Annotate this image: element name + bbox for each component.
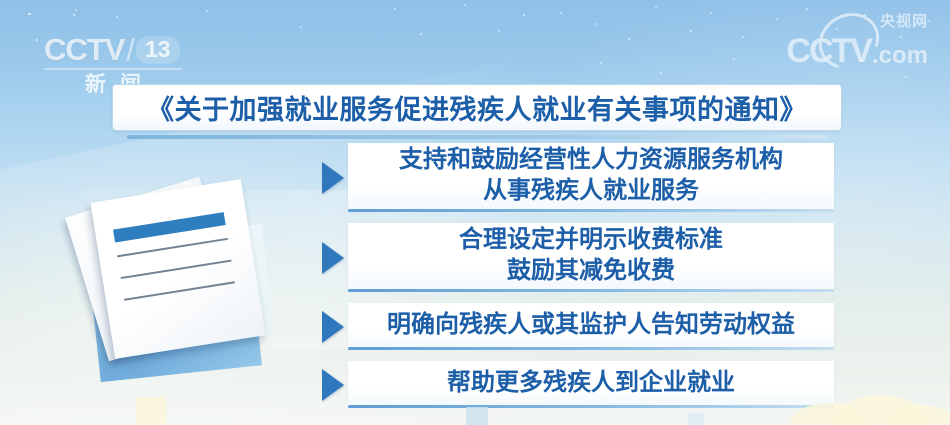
point-box: 合理设定并明示收费标准 鼓励其减免收费 — [348, 223, 834, 289]
point-text: 明确向残疾人或其监护人告知劳动权益 — [387, 310, 795, 341]
point-line-1: 帮助更多残疾人到企业就业 — [447, 369, 735, 396]
document-text-line — [117, 238, 228, 257]
bullet-arrow-icon — [322, 242, 344, 274]
star-dot — [420, 33, 422, 35]
cloud-shape — [886, 405, 950, 425]
list-item: 帮助更多残疾人到企业就业 — [322, 361, 834, 408]
cctv-logo-rule — [44, 68, 182, 70]
cctv-wordmark: CCTV — [44, 34, 124, 65]
star-dot — [300, 26, 302, 28]
star-dot — [928, 20, 930, 22]
document-text-line — [121, 260, 232, 279]
star-dot — [73, 14, 75, 16]
watermark-cctv-text: CCTV — [786, 34, 871, 68]
point-line-2: 鼓励其减免收费 — [459, 256, 723, 287]
star-dot — [206, 10, 208, 12]
cctv-slash-icon: / — [126, 34, 135, 65]
point-line-1: 支持和鼓励经营性人力资源服务机构 — [399, 146, 783, 173]
watermark-dotcom-text: .com — [872, 44, 928, 68]
point-text: 帮助更多残疾人到企业就业 — [447, 368, 735, 399]
star-dot — [28, 13, 31, 15]
star-dot — [394, 8, 396, 10]
cctv-logo-row: CCTV / 13 — [44, 34, 204, 65]
star-dot — [806, 8, 808, 10]
point-text: 合理设定并明示收费标准 鼓励其减免收费 — [459, 225, 723, 286]
star-dot — [36, 39, 38, 41]
point-box: 支持和鼓励经营性人力资源服务机构 从事残疾人就业服务 — [348, 143, 834, 209]
star-dot — [860, 60, 862, 62]
watermark-cn-text: 央视网 — [880, 14, 928, 29]
star-dot — [710, 12, 712, 14]
page-title: 《关于加强就业服务促进残疾人就业有关事项的通知》 — [147, 88, 807, 127]
points-list: 支持和鼓励经营性人力资源服务机构 从事残疾人就业服务 合理设定并明示收费标准 鼓… — [322, 143, 834, 419]
star-dot — [560, 12, 562, 14]
star-dot — [776, 18, 778, 20]
star-dot — [116, 16, 118, 18]
list-item: 合理设定并明示收费标准 鼓励其减免收费 — [322, 223, 834, 292]
star-dot — [864, 14, 866, 16]
star-dot — [628, 38, 630, 40]
point-underbar — [348, 405, 834, 408]
bullet-arrow-icon — [322, 162, 344, 194]
star-dot — [75, 9, 77, 11]
star-dot — [900, 36, 902, 38]
document-front-page — [91, 179, 266, 359]
list-item: 明确向残疾人或其监护人告知劳动权益 — [322, 303, 834, 350]
list-item: 支持和鼓励经营性人力资源服务机构 从事残疾人就业服务 — [322, 143, 834, 212]
document-content-lines — [113, 212, 238, 320]
star-dot — [596, 23, 598, 25]
point-box: 明确向残疾人或其监护人告知劳动权益 — [348, 303, 834, 347]
watermark-inner: CCTV .com 央视网 — [786, 34, 928, 68]
star-dot — [733, 58, 735, 60]
decor-bar-yellow — [136, 397, 166, 425]
star-dot — [655, 6, 657, 8]
star-dot — [742, 36, 744, 38]
star-dot — [600, 62, 602, 64]
document-backing-card — [88, 244, 262, 382]
document-back-page — [65, 177, 243, 361]
star-dot — [464, 4, 466, 6]
document-text-line — [124, 281, 235, 300]
bullet-arrow-icon — [322, 311, 344, 343]
cctv-channel-number: 13 — [136, 36, 180, 64]
bullet-arrow-icon — [322, 369, 344, 401]
point-underbar — [348, 209, 834, 212]
star-dot — [660, 72, 662, 74]
cloud-shape — [832, 395, 928, 425]
point-line-2: 从事残疾人就业服务 — [399, 176, 783, 207]
star-dot — [905, 76, 907, 78]
document-glass-overlay — [141, 224, 274, 346]
point-underbar — [348, 289, 834, 292]
point-line-1: 合理设定并明示收费标准 — [459, 226, 723, 253]
globe-ring-icon — [809, 3, 889, 80]
star-dot — [523, 14, 525, 16]
title-box: 《关于加强就业服务促进残疾人就业有关事项的通知》 — [112, 84, 842, 131]
star-dot — [836, 28, 838, 30]
cctv-com-watermark: CCTV .com 央视网 — [786, 34, 928, 68]
star-dot — [690, 30, 692, 32]
point-line-1: 明确向残疾人或其监护人告知劳动权益 — [387, 311, 795, 338]
point-box: 帮助更多残疾人到企业就业 — [348, 361, 834, 405]
title-panel: 《关于加强就业服务促进残疾人就业有关事项的通知》 — [112, 84, 842, 139]
point-underbar — [348, 347, 834, 350]
title-underbar — [127, 135, 827, 139]
document-title-bar — [113, 212, 226, 242]
document-illustration — [62, 182, 312, 392]
star-dot — [498, 30, 500, 32]
point-text: 支持和鼓励经营性人力资源服务机构 从事残疾人就业服务 — [399, 145, 783, 206]
broadcast-graphic: CCTV / 13 新闻 CCTV .com 央视网 — [0, 0, 950, 425]
